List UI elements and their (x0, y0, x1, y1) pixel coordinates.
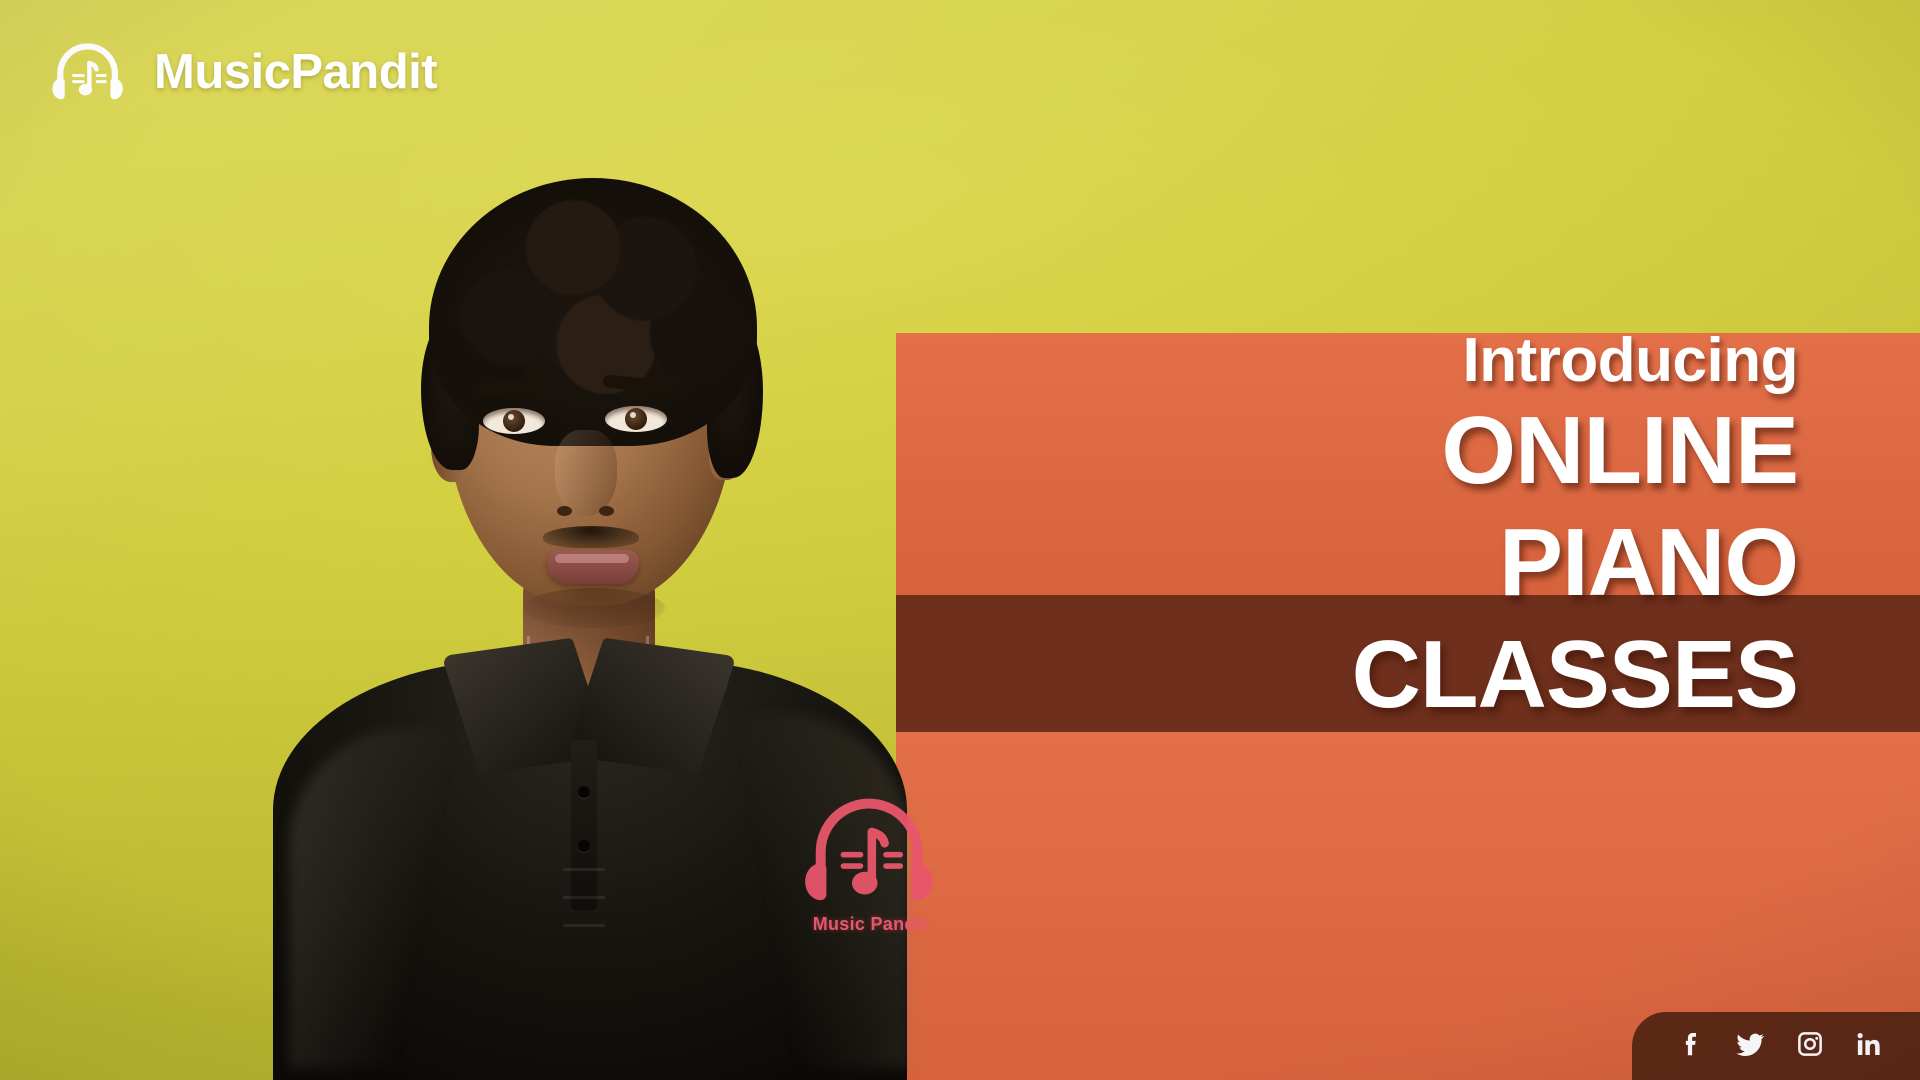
eye-left (483, 408, 545, 434)
brand-logo[interactable]: MusicPandit (48, 40, 437, 104)
torso-highlight-left (289, 728, 469, 1068)
nose (555, 430, 617, 516)
video-frame: Music Pandit MusicPandit Introducing ONL… (0, 0, 1920, 1080)
iris-right (625, 408, 647, 430)
headline-line-piano: PIANO (1352, 514, 1798, 612)
presenter-photo (255, 168, 915, 1080)
facebook-icon[interactable] (1677, 1029, 1707, 1059)
chin-shadow (523, 588, 665, 628)
twitter-bird-icon[interactable] (1736, 1029, 1766, 1059)
brand-name: MusicPandit (154, 44, 437, 100)
nostril-right (599, 506, 614, 516)
headphones-music-note-icon (48, 40, 136, 104)
nostril-left (557, 506, 572, 516)
shirt-seam (563, 868, 605, 871)
polo-placket (571, 740, 597, 910)
headline-line-online: ONLINE (1352, 402, 1798, 500)
shirt-logo-icon (796, 778, 942, 920)
shirt-seam (563, 924, 605, 927)
shirt-logo-label: Music Pandit (790, 914, 950, 935)
headline-line-classes: CLASSES (1352, 626, 1798, 724)
linkedin-icon[interactable] (1854, 1029, 1884, 1059)
instagram-icon[interactable] (1795, 1029, 1825, 1059)
curly-hair (429, 178, 757, 446)
shirt-seam (563, 896, 605, 899)
moustache (543, 526, 639, 548)
eye-right (605, 406, 667, 432)
polo-button-bottom (578, 840, 590, 852)
headline-block: Introducing ONLINE PIANO CLASSES (1352, 330, 1798, 724)
social-links-bar (1632, 1012, 1920, 1080)
headline-intro: Introducing (1352, 330, 1798, 392)
polo-button-top (578, 786, 590, 798)
upper-lip-highlight (555, 554, 629, 563)
iris-left (503, 410, 525, 432)
